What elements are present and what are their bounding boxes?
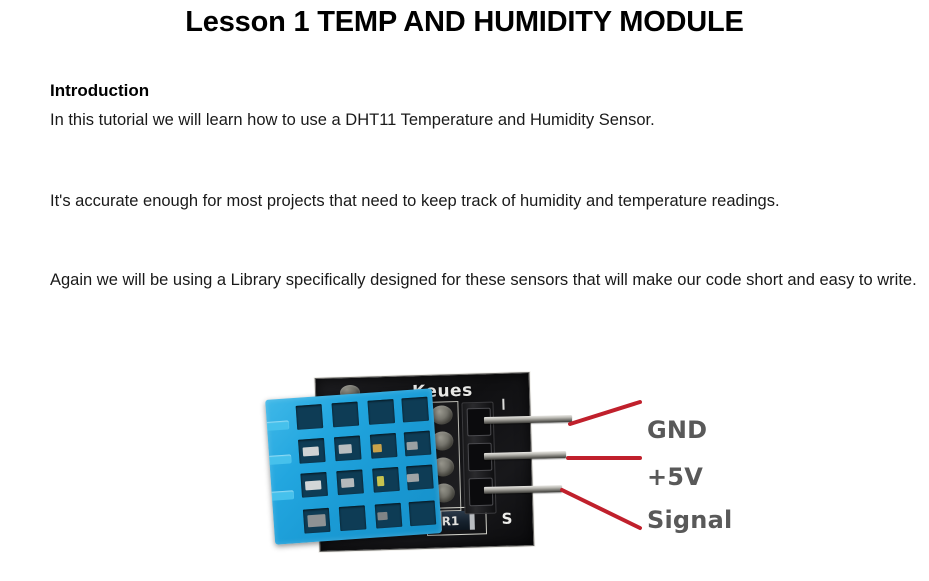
sensor-internal-speck <box>341 478 355 488</box>
sensor-vent-fin <box>272 490 295 501</box>
document-page: Lesson 1 TEMP AND HUMIDITY MODULE Introd… <box>0 0 929 581</box>
body-content: Introduction In this tutorial we will le… <box>50 80 920 296</box>
sensor-vent-fin <box>267 420 290 431</box>
sensor-internal-speck <box>373 444 383 453</box>
sensor-internal-speck <box>307 514 326 527</box>
dht11-sensor-body <box>265 388 442 544</box>
sensor-internal-speck <box>338 444 352 454</box>
paragraph-1: In this tutorial we will learn how to us… <box>50 105 920 136</box>
pin-signal <box>484 485 562 494</box>
pcb-tick-mark <box>502 399 504 410</box>
sensor-module-figure: Keues R1 S <box>262 372 782 581</box>
page-title: Lesson 1 TEMP AND HUMIDITY MODULE <box>0 6 929 39</box>
section-heading-introduction: Introduction <box>50 80 920 102</box>
sensor-grille-hole <box>339 505 367 531</box>
sensor-vent-fin <box>269 454 292 465</box>
callout-label-signal: Signal <box>647 506 732 534</box>
pin-5v <box>484 451 566 460</box>
paragraph-3: Again we will be using a Library specifi… <box>50 265 920 296</box>
sensor-internal-speck <box>377 476 385 486</box>
pin-gnd <box>484 415 572 424</box>
callout-label-gnd: GND <box>647 416 707 444</box>
sensor-internal-speck <box>407 473 420 482</box>
sensor-grille-hole <box>409 500 437 526</box>
pcb-signal-silkscreen: S <box>501 510 512 528</box>
sensor-internal-speck <box>303 446 320 456</box>
leader-line-signal <box>562 490 640 528</box>
sensor-grille-hole <box>332 402 360 428</box>
sensor-internal-speck <box>406 441 418 450</box>
callout-label-5v: +5V <box>647 463 703 491</box>
sensor-grille-hole <box>401 397 429 423</box>
sensor-grille-hole <box>296 404 324 430</box>
sensor-grille-hole <box>367 399 395 425</box>
leader-line-gnd <box>570 402 640 424</box>
sensor-internal-speck <box>305 480 322 490</box>
paragraph-2: It's accurate enough for most projects t… <box>50 186 920 217</box>
pcb-resistor-silkscreen: R1 <box>441 514 459 528</box>
sensor-internal-speck <box>377 512 388 521</box>
